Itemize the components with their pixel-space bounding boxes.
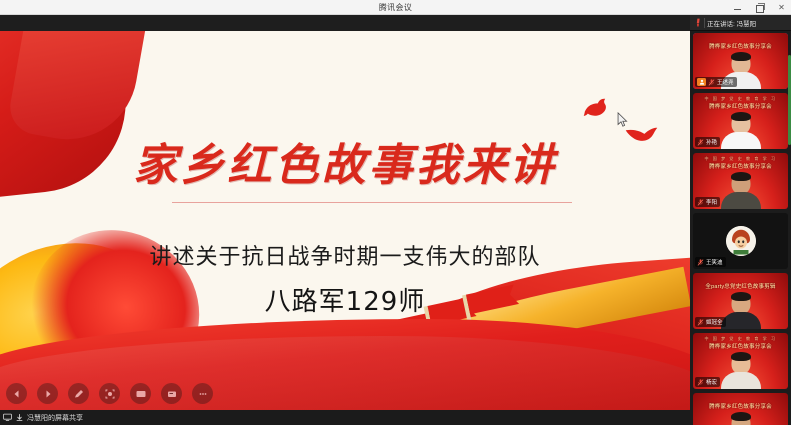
participant-name-tag: 李阳 bbox=[695, 197, 720, 207]
right-red-ribbon bbox=[404, 255, 690, 410]
shared-screen-area[interactable]: 家乡红色故事我来讲 讲述关于抗日战争时期一支伟大的部队 八路军129师 bbox=[0, 31, 690, 410]
zoom-icon[interactable] bbox=[161, 383, 182, 404]
tile-banner-text: 腾桦家乡红色故事分享会 bbox=[693, 102, 788, 110]
title-underline bbox=[172, 202, 572, 203]
participant-name: 王述尧 bbox=[717, 78, 734, 86]
participant-tile[interactable]: 腾桦家乡红色故事分享会王述尧 bbox=[693, 33, 788, 89]
participants-panel: 正在讲话: 冯慧阳 腾桦家乡红色故事分享会王述尧中 国 梦 党 史 教 育 学 … bbox=[690, 15, 791, 425]
participant-tile[interactable]: 王笑迪 bbox=[693, 213, 788, 269]
participant-tile[interactable]: 腾桦家乡红色故事分享会20信息化王金典 bbox=[693, 393, 788, 425]
tile-banner-text: 全party总党史红色故事剪辑 bbox=[693, 282, 788, 290]
tile-banner-text: 腾桦家乡红色故事分享会 bbox=[693, 402, 788, 410]
window-titlebar: 腾讯会议 ✕ bbox=[0, 0, 791, 15]
participant-tile[interactable]: 中 国 梦 党 史 教 育 学 习腾桦家乡红色故事分享会李阳 bbox=[693, 153, 788, 209]
participant-video-person bbox=[721, 413, 761, 425]
more-options-icon[interactable] bbox=[192, 383, 213, 404]
participant-name-tag: 杨宏 bbox=[695, 377, 720, 387]
participant-name: 姬冠全 bbox=[706, 318, 723, 326]
tile-banner-text: 腾桦家乡红色故事分享会 bbox=[693, 162, 788, 170]
mic-muted-icon bbox=[708, 79, 715, 86]
slide-title: 家乡红色故事我来讲 bbox=[0, 129, 690, 193]
pen-icon[interactable] bbox=[68, 383, 89, 404]
participant-name-tag: 王笑迪 bbox=[695, 257, 726, 267]
monitor-icon bbox=[3, 413, 12, 422]
mic-muted-icon bbox=[697, 199, 704, 206]
pointer-icon[interactable] bbox=[99, 383, 120, 404]
maximize-button[interactable] bbox=[754, 2, 765, 13]
presentation-slide: 家乡红色故事我来讲 讲述关于抗日战争时期一支伟大的部队 八路军129师 bbox=[0, 31, 690, 410]
speaking-indicator-icon bbox=[694, 18, 703, 27]
close-button[interactable]: ✕ bbox=[776, 2, 787, 13]
slide-subtitle-line-2: 八路军129师 bbox=[0, 281, 690, 318]
participant-tile[interactable]: 中 国 梦 党 史 教 育 学 习腾桦家乡红色故事分享会杨宏 bbox=[693, 333, 788, 389]
participant-tile[interactable]: 中 国 梦 党 史 教 育 学 习腾桦家乡红色故事分享会孙艳 bbox=[693, 93, 788, 149]
participant-name-tag: 王述尧 bbox=[695, 77, 737, 87]
host-badge bbox=[697, 78, 706, 86]
tencent-meeting-window: 腾讯会议 ✕ bbox=[0, 0, 791, 425]
participant-name: 杨宏 bbox=[706, 378, 717, 386]
participant-tile-list[interactable]: 腾桦家乡红色故事分享会王述尧中 国 梦 党 史 教 育 学 习腾桦家乡红色故事分… bbox=[690, 31, 791, 425]
previous-slide-icon[interactable] bbox=[6, 383, 27, 404]
avatar bbox=[726, 226, 756, 256]
download-arrow-icon[interactable] bbox=[15, 413, 24, 422]
screen-share-status-bar: 冯慧阳的屏幕共享 bbox=[0, 410, 690, 425]
tile-banner-text: 腾桦家乡红色故事分享会 bbox=[693, 42, 788, 50]
participant-name: 李阳 bbox=[706, 198, 717, 206]
slide-grid-icon[interactable] bbox=[130, 383, 151, 404]
slide-subtitle-line-1: 讲述关于抗日战争时期一支伟大的部队 bbox=[0, 239, 690, 271]
participant-tile[interactable]: 全party总党史红色故事剪辑姬冠全 bbox=[693, 273, 788, 329]
screen-share-status-text: 冯慧阳的屏幕共享 bbox=[27, 413, 83, 423]
participant-name: 王笑迪 bbox=[706, 258, 723, 266]
header-divider bbox=[704, 18, 705, 28]
participant-video-person bbox=[721, 113, 761, 149]
window-title: 腾讯会议 bbox=[379, 2, 413, 13]
participant-name-tag: 姬冠全 bbox=[695, 317, 726, 327]
minimize-button[interactable] bbox=[732, 2, 743, 13]
participant-video-person bbox=[721, 353, 761, 389]
party-emblem-icon bbox=[464, 353, 550, 410]
presenter-toolbar bbox=[6, 383, 213, 404]
active-speaker-label: 正在讲话: 冯慧阳 bbox=[707, 18, 756, 28]
mic-muted-icon bbox=[697, 139, 704, 146]
participant-video-person bbox=[721, 293, 761, 329]
next-slide-icon[interactable] bbox=[37, 383, 58, 404]
participant-name-tag: 孙艳 bbox=[695, 137, 720, 147]
mic-muted-icon bbox=[697, 319, 704, 326]
mic-muted-icon bbox=[697, 259, 704, 266]
mic-muted-icon bbox=[697, 379, 704, 386]
dove-icon-1 bbox=[581, 96, 612, 122]
meeting-frame: 家乡红色故事我来讲 讲述关于抗日战争时期一支伟大的部队 八路军129师 bbox=[0, 15, 791, 425]
window-controls: ✕ bbox=[732, 0, 787, 15]
active-speaker-header: 正在讲话: 冯慧阳 bbox=[690, 15, 791, 31]
participant-name: 孙艳 bbox=[706, 138, 717, 146]
tile-banner-text: 腾桦家乡红色故事分享会 bbox=[693, 342, 788, 350]
participant-video-person bbox=[721, 173, 761, 209]
